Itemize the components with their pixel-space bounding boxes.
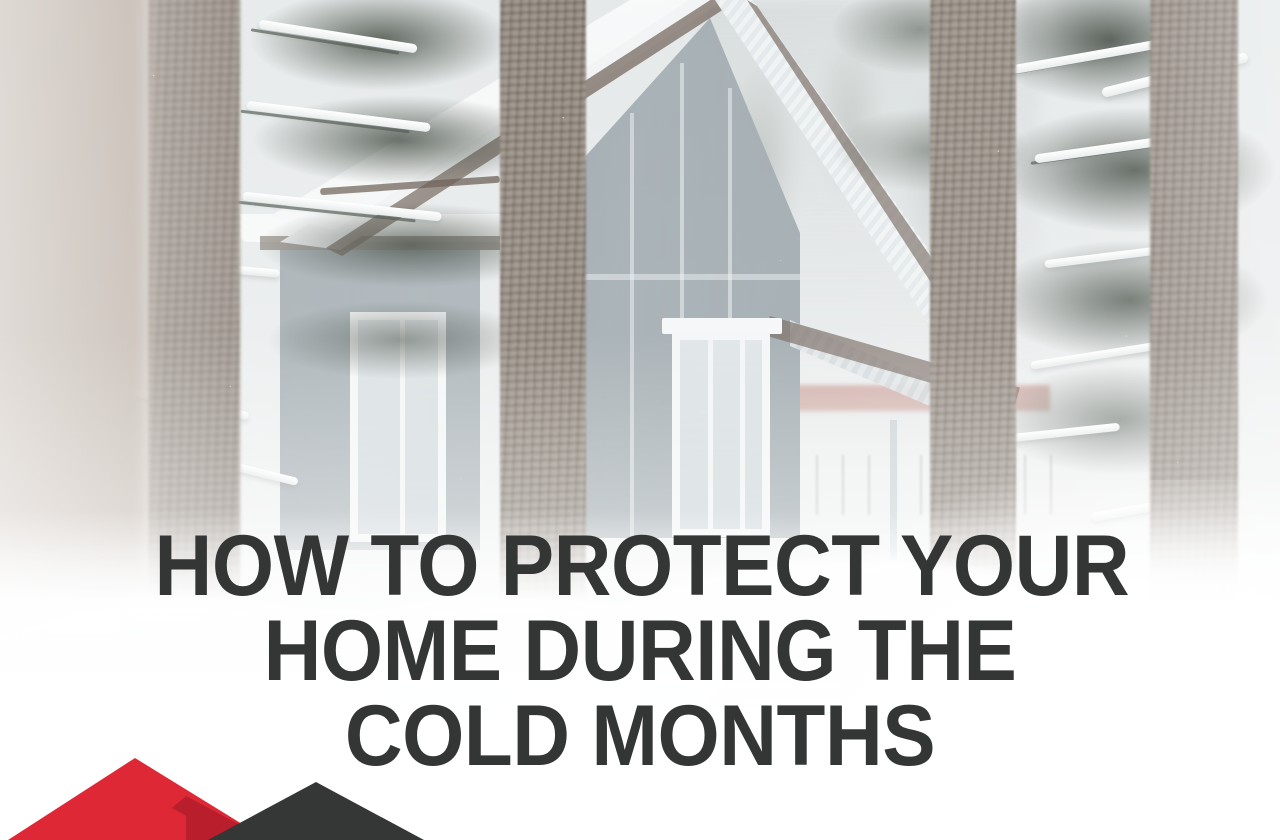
mountain-logo <box>0 730 470 840</box>
logo-dark-peak <box>208 782 424 840</box>
headline-line-1: HOW TO PROTECT YOUR <box>45 524 1235 609</box>
headline-line-2: HOME DURING THE <box>45 609 1235 694</box>
poster-canvas: HOW TO PROTECT YOUR HOME DURING THE COLD… <box>0 0 1280 840</box>
